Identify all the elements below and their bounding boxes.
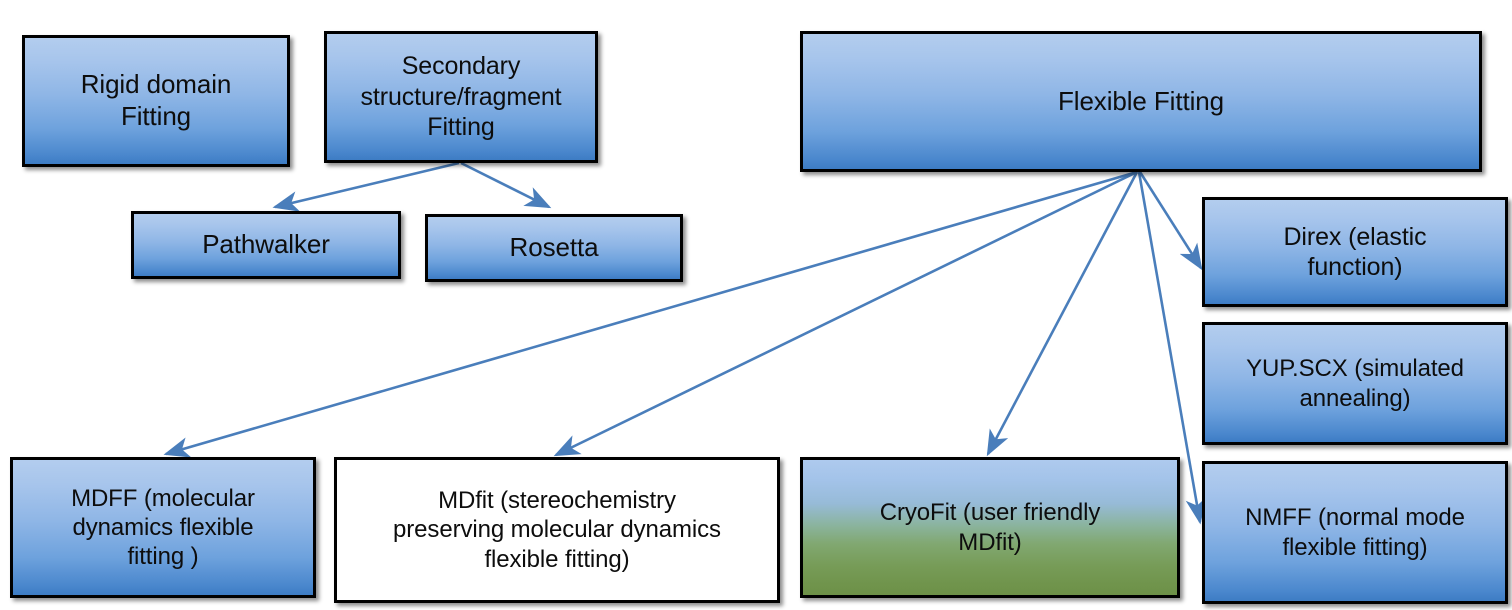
node-mdff[interactable]: MDFF (molecular dynamics flexible fittin…	[10, 457, 316, 598]
node-secondary-structure-fitting[interactable]: Secondary structure/fragment Fitting	[324, 31, 598, 163]
node-mdfit[interactable]: MDfit (stereochemistry preserving molecu…	[334, 457, 780, 603]
diagram-canvas: Rigid domain Fitting Secondary structure…	[0, 0, 1512, 610]
connector-secondary-to-pathwalker	[275, 163, 459, 207]
node-direx[interactable]: Direx (elastic function)	[1202, 197, 1508, 307]
node-label: CryoFit (user friendly MDfit)	[803, 498, 1177, 557]
node-label: Flexible Fitting	[803, 86, 1479, 118]
node-rigid-domain-fitting[interactable]: Rigid domain Fitting	[22, 35, 290, 167]
node-label: NMFF (normal mode flexible fitting)	[1205, 503, 1505, 562]
node-yupscx[interactable]: YUP.SCX (simulated annealing)	[1202, 322, 1508, 445]
node-label: Secondary structure/fragment Fitting	[327, 51, 595, 143]
node-label: Direx (elastic function)	[1205, 222, 1505, 283]
connector-flexible-to-direx	[1140, 172, 1201, 268]
node-label: Rigid domain Fitting	[25, 69, 287, 132]
node-rosetta[interactable]: Rosetta	[425, 214, 683, 282]
node-label: MDFF (molecular dynamics flexible fittin…	[13, 484, 313, 572]
node-pathwalker[interactable]: Pathwalker	[131, 211, 401, 279]
connector-secondary-to-rosetta	[461, 163, 549, 207]
node-label: MDfit (stereochemistry preserving molecu…	[337, 486, 777, 574]
node-label: Pathwalker	[134, 229, 398, 261]
node-nmff[interactable]: NMFF (normal mode flexible fitting)	[1202, 461, 1508, 604]
node-label: Rosetta	[428, 232, 680, 264]
connector-flexible-to-cryofit	[988, 172, 1137, 454]
node-label: YUP.SCX (simulated annealing)	[1205, 354, 1505, 413]
node-flexible-fitting[interactable]: Flexible Fitting	[800, 31, 1482, 172]
node-cryofit[interactable]: CryoFit (user friendly MDfit)	[800, 457, 1180, 598]
